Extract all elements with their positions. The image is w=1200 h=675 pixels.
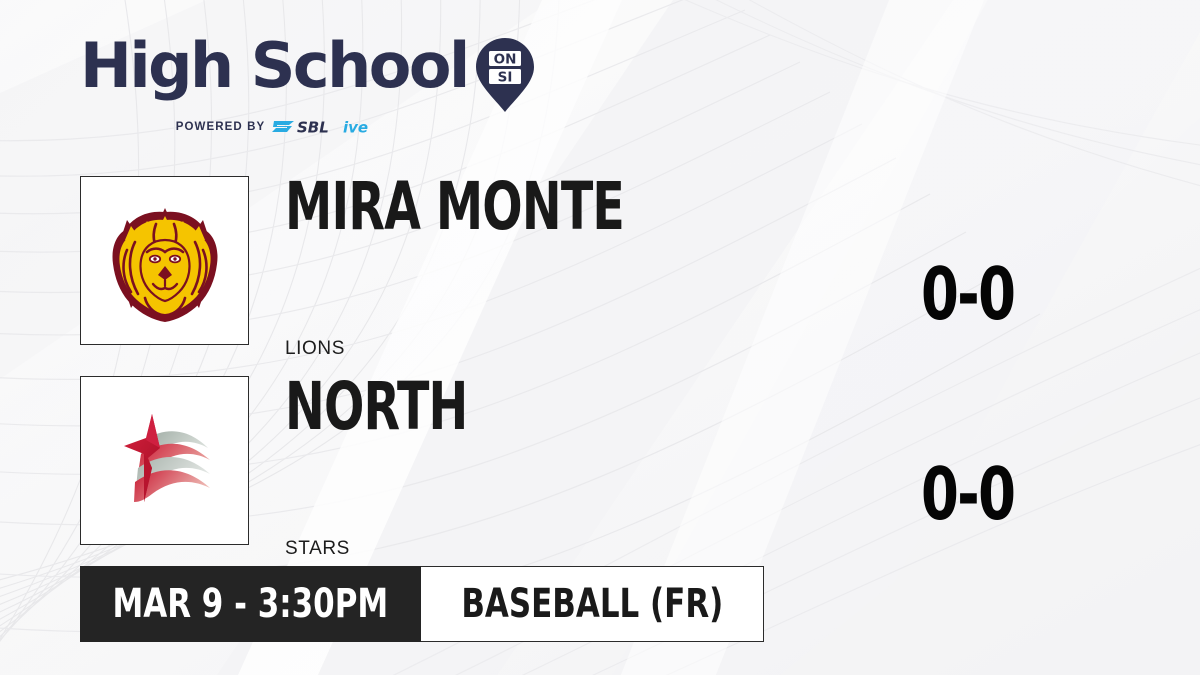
team-name-2: NORTH xyxy=(285,374,468,440)
brand-logo: High School ON SI xyxy=(80,34,534,112)
onsi-pin-icon: ON SI xyxy=(476,38,534,112)
team-logo-box-1 xyxy=(80,176,249,345)
team-record-1: 0-0 xyxy=(921,258,1014,330)
pin-label-on: ON xyxy=(493,51,516,67)
game-datetime-label: MAR 9 - 3:30PM xyxy=(113,581,389,627)
game-info-bar: MAR 9 - 3:30PM BASEBALL (FR) xyxy=(80,566,764,642)
sblive-logo-icon: SBL ive xyxy=(272,117,384,136)
brand-header: High School ON SI POWERED BY SBL ive xyxy=(80,34,534,136)
team-logo-box-2 xyxy=(80,376,249,545)
pin-label-si: SI xyxy=(497,69,512,85)
star-swoosh-icon xyxy=(100,396,230,526)
lion-head-icon xyxy=(100,196,230,326)
game-sport-cell: BASEBALL (FR) xyxy=(421,566,764,642)
scoreboard-graphic: High School ON SI POWERED BY SBL ive xyxy=(0,0,1200,675)
team-mascot-2: STARS xyxy=(285,538,350,560)
svg-text:SBL: SBL xyxy=(297,119,329,137)
team-mascot-1: LIONS xyxy=(285,338,345,360)
powered-by-label: POWERED BY xyxy=(176,121,266,133)
powered-by-row: POWERED BY SBL ive xyxy=(80,117,480,136)
brand-wordmark: High School xyxy=(80,34,468,98)
team-name-1: MIRA MONTE xyxy=(285,174,624,240)
svg-text:ive: ive xyxy=(343,119,368,137)
game-datetime-cell: MAR 9 - 3:30PM xyxy=(80,566,421,642)
team-record-2: 0-0 xyxy=(921,458,1014,530)
game-sport-label: BASEBALL (FR) xyxy=(461,581,723,627)
